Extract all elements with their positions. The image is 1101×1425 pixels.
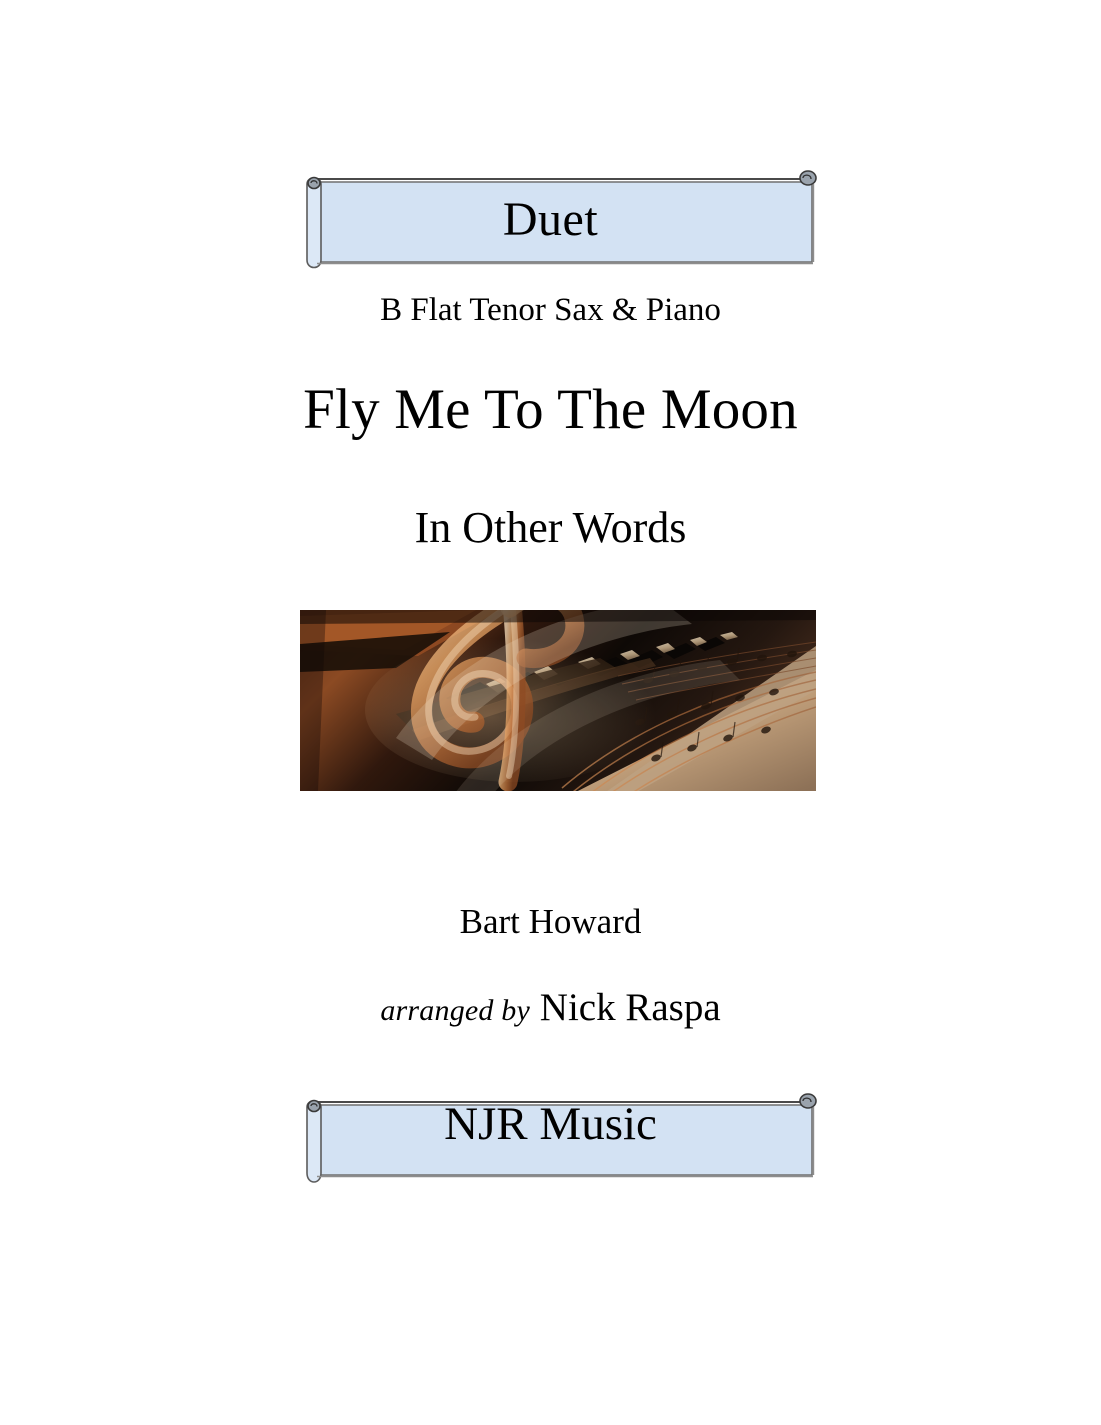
arranger-name: Nick Raspa	[540, 986, 721, 1029]
alternate-title: In Other Words	[0, 506, 1101, 550]
cover-artwork	[300, 610, 816, 791]
banner-top-label: Duet	[0, 196, 1101, 244]
cover-artwork-image	[300, 610, 816, 791]
instrumentation-text: B Flat Tenor Sax & Piano	[0, 294, 1101, 327]
page-title: Fly Me To The Moon	[0, 381, 1101, 438]
banner-bottom-label: NJR Music	[0, 1101, 1101, 1148]
cover-page: Duet B Flat Tenor Sax & Piano Fly Me To …	[0, 0, 1101, 1425]
composer-name: Bart Howard	[0, 904, 1101, 939]
banner-top-left-scroll-knob	[308, 178, 320, 189]
arranger-line: arranged by Nick Raspa	[0, 988, 1101, 1027]
arranger-prefix: arranged by	[380, 994, 530, 1027]
